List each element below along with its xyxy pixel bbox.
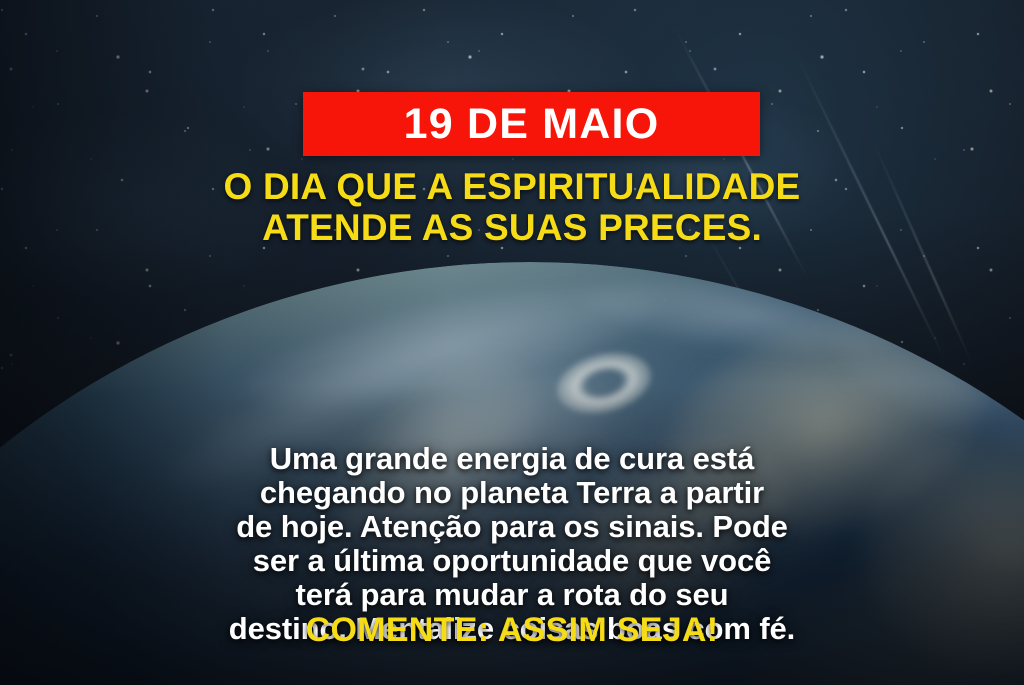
headline-line-2: ATENDE AS SUAS PRECES. xyxy=(36,207,988,248)
poster-content: 19 DE MAIO O DIA QUE A ESPIRITUALIDADE A… xyxy=(0,0,1024,685)
call-to-action-label: COMENTE: ASSIM SEJA! xyxy=(306,611,719,649)
body-line-4: ser a última oportunidade que você xyxy=(24,544,1000,578)
call-to-action: COMENTE: ASSIM SEJA! xyxy=(0,613,1024,647)
date-banner-label: 19 DE MAIO xyxy=(404,103,660,146)
body-line-3: de hoje. Atenção para os sinais. Pode xyxy=(24,510,1000,544)
body-line-2: chegando no planeta Terra a partir xyxy=(24,476,1000,510)
poster-canvas: 19 DE MAIO O DIA QUE A ESPIRITUALIDADE A… xyxy=(0,0,1024,685)
headline: O DIA QUE A ESPIRITUALIDADE ATENDE AS SU… xyxy=(0,166,1024,249)
headline-line-1: O DIA QUE A ESPIRITUALIDADE xyxy=(36,166,988,207)
body-line-1: Uma grande energia de cura está xyxy=(24,442,1000,476)
body-line-5: terá para mudar a rota do seu xyxy=(24,578,1000,612)
date-banner: 19 DE MAIO xyxy=(303,92,760,156)
